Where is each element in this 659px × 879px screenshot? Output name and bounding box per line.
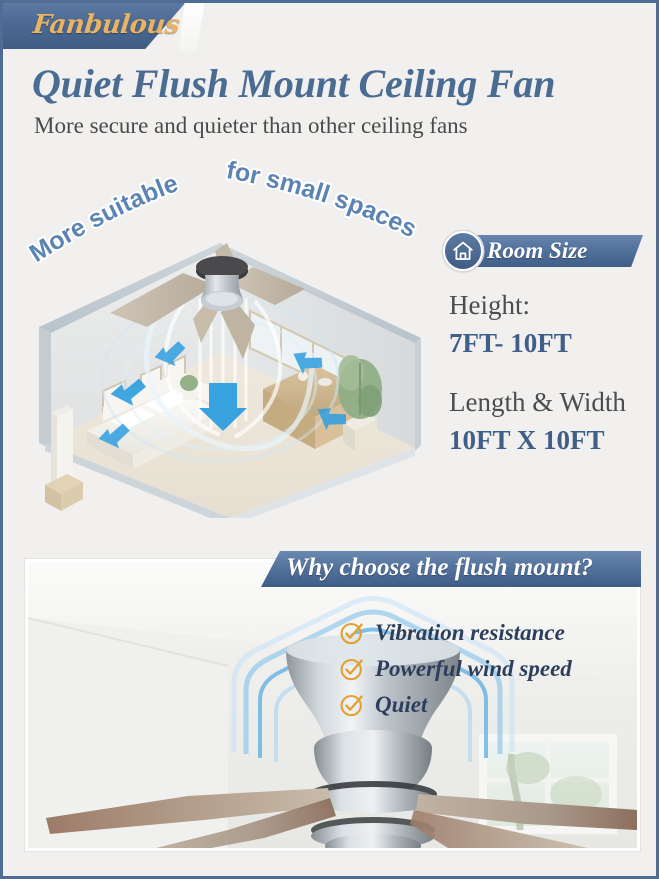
length-width-value: 10FT X 10FT: [449, 425, 605, 456]
room-illustration: [15, 193, 435, 518]
feature-list: Vibration resistance Powerful wind speed…: [339, 615, 639, 723]
list-item: Quiet: [339, 687, 639, 723]
list-item: Vibration resistance: [339, 615, 639, 651]
list-item: Powerful wind speed: [339, 651, 639, 687]
feature-label: Powerful wind speed: [375, 656, 572, 682]
brand-logo-wordmark: Fanbulous: [31, 10, 180, 40]
feature-label: Vibration resistance: [375, 620, 565, 646]
page-title: Quiet Flush Mount Ceiling Fan: [32, 61, 642, 107]
length-width-label: Length & Width: [449, 387, 626, 418]
room-svg: [15, 193, 435, 518]
why-choose-title: Why choose the flush mount?: [286, 554, 593, 582]
page-subtitle: More secure and quieter than other ceili…: [34, 113, 644, 139]
brand-banner-edge: [179, 1, 205, 51]
infographic-page: Fanbulous Quiet Flush Mount Ceiling Fan …: [0, 0, 659, 879]
home-icon: [443, 231, 483, 271]
height-value: 7FT- 10FT: [449, 328, 572, 359]
check-circle-icon: [339, 656, 365, 682]
room-scene: More suitable for small spaces: [15, 153, 435, 518]
home-icon-glyph: [451, 239, 475, 263]
check-circle-icon: [339, 620, 365, 646]
height-label: Height:: [449, 290, 530, 321]
check-circle-icon: [339, 692, 365, 718]
feature-label: Quiet: [375, 692, 427, 718]
room-size-title: Room Size: [487, 238, 587, 264]
